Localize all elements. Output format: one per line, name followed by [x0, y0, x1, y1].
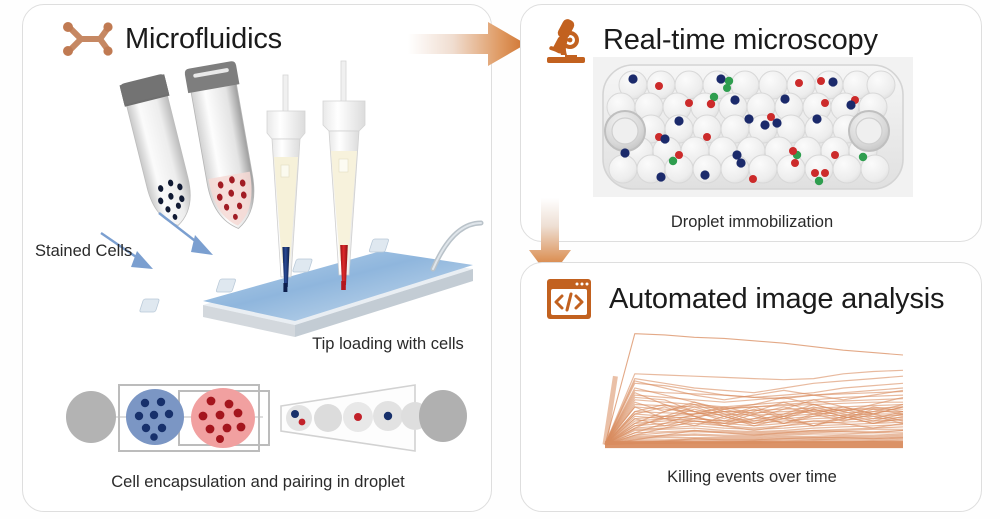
tube-blue-cells [119, 73, 200, 231]
killing-events-caption: Killing events over time [521, 468, 983, 487]
figure-root: Microfluidics [0, 0, 1000, 519]
array-port-right [849, 111, 889, 151]
encapsulation-caption: Cell encapsulation and pairing in drople… [23, 473, 493, 492]
panel-analysis: Automated image analysis Killing events … [520, 262, 982, 512]
microfluidic-chip-slide [139, 223, 481, 337]
stained-cells-label: Stained Cells [35, 242, 195, 261]
analysis-title: Automated image analysis [609, 283, 944, 316]
droplet-encapsulation-diagram [63, 375, 463, 460]
killing-events-traces-plot [587, 323, 917, 463]
code-window-icon [543, 275, 595, 323]
microscopy-title: Real-time microscopy [603, 24, 878, 57]
droplet-red-only [343, 402, 373, 432]
panel-microscopy: Real-time microscopy [520, 4, 982, 242]
microfluidics-header: Microfluidics [59, 19, 282, 59]
droplet-pair-blue-red [286, 405, 312, 431]
microfluidics-title: Microfluidics [125, 23, 282, 56]
microwell-array-chip [593, 57, 913, 197]
array-port-left [605, 111, 645, 151]
arrow-microfluidics-to-microscopy [408, 20, 530, 68]
droplet-immobilization-caption: Droplet immobilization [521, 213, 983, 232]
microfluidics-illustration [81, 73, 481, 363]
tube-red-cells [184, 60, 264, 233]
droplet-empty-gray [66, 391, 116, 443]
analysis-header: Automated image analysis [543, 275, 944, 323]
panel-microfluidics: Microfluidics [22, 4, 492, 512]
droplet-blue-cells [126, 389, 184, 445]
droplet-blue-only [373, 401, 403, 431]
microscope-icon [543, 15, 589, 65]
tip-loading-caption: Tip loading with cells [293, 335, 483, 354]
droplet-outlet-gray [419, 390, 467, 442]
droplet-red-cells [191, 388, 255, 448]
microfluidic-chip-icon [59, 19, 111, 59]
pipette-tip-red [323, 61, 365, 290]
droplet-empty-1 [314, 404, 342, 432]
